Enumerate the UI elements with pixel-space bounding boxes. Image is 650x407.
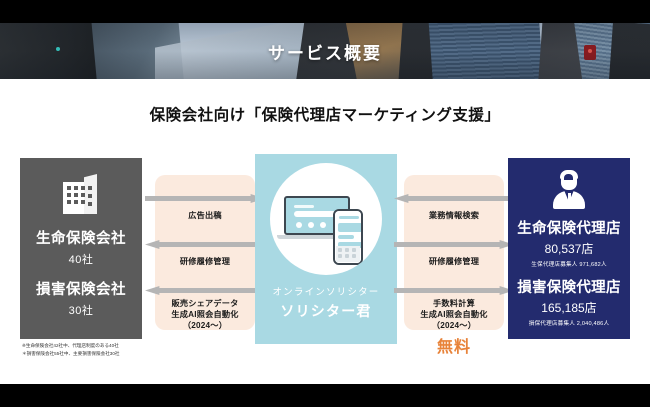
- slide-subtitle: 保険会社向け「保険代理店マーケティング支援」: [0, 103, 650, 125]
- left-flow-label-2: 研修履修管理: [155, 256, 255, 267]
- slide-body: 保険会社向け「保険代理店マーケティング支援」 生命保険会社 40社: [0, 79, 650, 384]
- product-caption-large: ソリシター君: [272, 301, 379, 321]
- nonlife-agency-note: 損保代理店募集人 2,040,486人: [529, 319, 610, 327]
- left-flow-label-1: 広告出稿: [155, 210, 255, 221]
- life-agency-label: 生命保険代理店: [517, 217, 621, 238]
- left-flow-label-3: 販売シェアデータ 生成AI照会自動化 （2024〜）: [155, 298, 255, 331]
- life-agency-note: 生保代理店募集人 971,682人: [531, 260, 607, 268]
- device-mockup-illustration: [270, 163, 382, 275]
- footnote-line: ※生命保険会社42社中、代理店制度のある40社: [22, 342, 157, 350]
- flow-arrow-left-icon: [145, 240, 265, 249]
- life-insurance-company-count: 40社: [69, 251, 94, 267]
- right-flow-label-1: 業務情報検索: [404, 210, 504, 221]
- right-flow-panel: 業務情報検索 研修履修管理 手数料計算 生成AI照会自動化 （2024〜）: [404, 175, 504, 330]
- nonlife-agency-count: 165,185店: [541, 299, 596, 316]
- building-icon: [63, 174, 99, 214]
- flow-arrow-right-icon: [394, 286, 514, 295]
- right-flow-label-2: 研修履修管理: [404, 256, 504, 267]
- flow-arrow-right-icon: [394, 240, 514, 249]
- right-flow-label-3: 手数料計算 生成AI照会自動化 （2024〜）: [404, 298, 504, 331]
- product-captions: オンラインソリシター ソリシター君: [272, 284, 379, 321]
- footnotes: ※生命保険会社42社中、代理店制度のある40社 ＊損害保険会社55社中、主要損害…: [22, 342, 157, 358]
- flow-arrow-left-icon: [394, 194, 514, 203]
- smartphone-icon: [333, 209, 363, 265]
- product-caption-small: オンラインソリシター: [272, 284, 379, 298]
- slide-root: サービス概要 保険会社向け「保険代理店マーケティング支援」: [0, 0, 650, 407]
- slide-header-banner: サービス概要: [0, 23, 650, 79]
- flow-arrow-left-icon: [145, 286, 265, 295]
- left-flow-panel: 広告出稿 研修履修管理 販売シェアデータ 生成AI照会自動化 （2024〜）: [155, 175, 255, 330]
- life-insurance-company-label: 生命保険会社: [36, 227, 126, 248]
- insurance-companies-card: 生命保険会社 40社 損害保険会社 30社: [20, 158, 142, 339]
- nonlife-insurance-company-label: 損害保険会社: [36, 278, 126, 299]
- person-icon: [551, 171, 587, 209]
- nonlife-insurance-company-count: 30社: [69, 302, 94, 318]
- product-card: オンラインソリシター ソリシター君: [255, 154, 397, 344]
- footnote-line: ＊損害保険会社55社中、主要損害保険会社30社: [22, 350, 157, 358]
- flow-arrow-right-icon: [145, 194, 265, 203]
- page-title: サービス概要: [0, 23, 650, 79]
- nonlife-agency-label: 損害保険代理店: [517, 276, 621, 297]
- free-badge: 無料: [404, 333, 504, 357]
- insurance-agencies-card: 生命保険代理店 80,537店 生保代理店募集人 971,682人 損害保険代理…: [508, 158, 630, 339]
- life-agency-count: 80,537店: [545, 240, 594, 257]
